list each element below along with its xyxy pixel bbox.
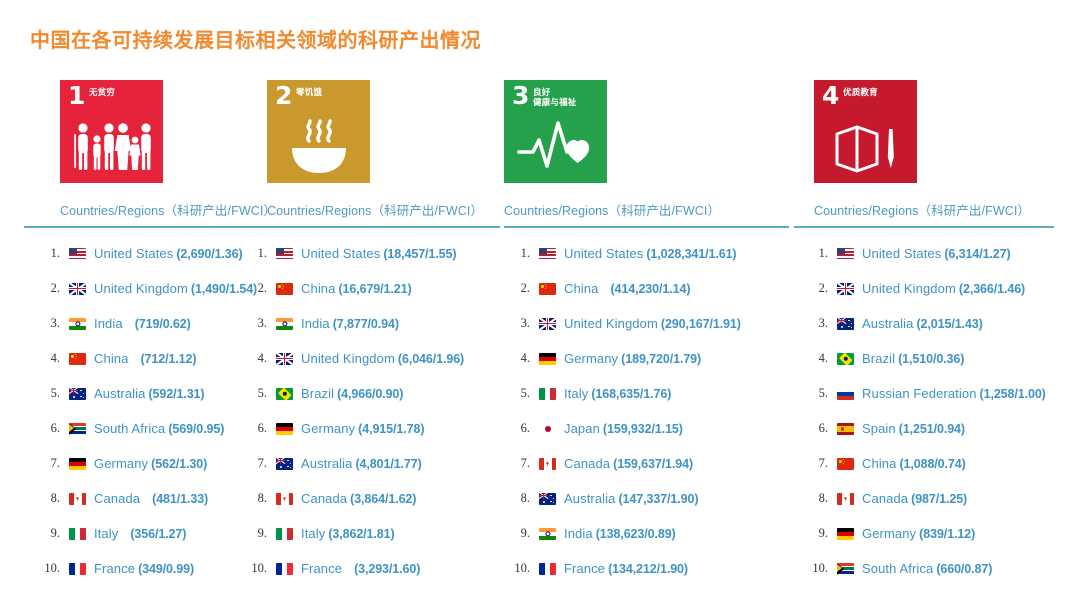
output-fwci-value: (562/1.30) bbox=[151, 457, 207, 471]
sdg-column-4: 4优质教育Countries/Regions（科研产出/FWCI）1.Unite… bbox=[794, 80, 1058, 586]
rank-number: 7. bbox=[802, 456, 828, 471]
list-item[interactable]: 6.Germany(4,915/1.78) bbox=[241, 411, 504, 446]
rank-number: 8. bbox=[241, 491, 267, 506]
list-item[interactable]: 6.Spain(1,251/0.94) bbox=[802, 411, 1058, 446]
rank-number: 10. bbox=[802, 561, 828, 576]
output-fwci-value: (987/1.25) bbox=[911, 492, 967, 506]
list-item[interactable]: 5.Brazil(4,966/0.90) bbox=[241, 376, 504, 411]
list-item[interactable]: 10.France(349/0.99) bbox=[34, 551, 256, 586]
rank-number: 8. bbox=[504, 491, 530, 506]
country-name: China bbox=[862, 456, 896, 471]
country-name: Australia bbox=[94, 386, 145, 401]
book-icon bbox=[814, 114, 917, 180]
rank-number: 4. bbox=[34, 351, 60, 366]
rank-number: 3. bbox=[241, 316, 267, 331]
list-item[interactable]: 3.Australia(2,015/1.43) bbox=[802, 306, 1058, 341]
output-fwci-value: (414,230/1.14) bbox=[610, 282, 690, 296]
output-fwci-value: (349/0.99) bbox=[138, 562, 194, 576]
output-fwci-value: (7,877/0.94) bbox=[333, 317, 399, 331]
country-name: Canada bbox=[301, 491, 347, 506]
output-fwci-value: (4,801/1.77) bbox=[355, 457, 421, 471]
country-name: United Kingdom bbox=[301, 351, 395, 366]
sdg-label: 良好健康与福祉 bbox=[533, 87, 577, 108]
rank-number: 10. bbox=[241, 561, 267, 576]
country-name: Germany bbox=[301, 421, 355, 436]
country-name: Canada bbox=[94, 491, 140, 506]
country-name: India bbox=[301, 316, 330, 331]
rank-number: 5. bbox=[504, 386, 530, 401]
sdg-column-3: 3良好健康与福祉Countries/Regions（科研产出/FWCI）1.Un… bbox=[504, 80, 794, 586]
list-item[interactable]: 7.Canada(159,637/1.94) bbox=[504, 446, 794, 481]
output-fwci-value: (290,167/1.91) bbox=[661, 317, 741, 331]
rank-number: 2. bbox=[34, 281, 60, 296]
rank-number: 9. bbox=[241, 526, 267, 541]
output-fwci-value: (6,046/1.96) bbox=[398, 352, 464, 366]
za-flag bbox=[837, 563, 854, 575]
country-name: United States bbox=[94, 246, 173, 261]
list-item[interactable]: 2.United Kingdom(1,490/1.54) bbox=[34, 271, 256, 306]
rank-number: 3. bbox=[504, 316, 530, 331]
output-fwci-value: (2,366/1.46) bbox=[959, 282, 1025, 296]
rank-number: 3. bbox=[802, 316, 828, 331]
list-item[interactable]: 3.India(719/0.62) bbox=[34, 306, 256, 341]
rank-number: 9. bbox=[802, 526, 828, 541]
rank-number: 9. bbox=[34, 526, 60, 541]
au-flag bbox=[539, 493, 556, 505]
ca-flag bbox=[837, 493, 854, 505]
column-divider bbox=[256, 226, 500, 228]
au-flag bbox=[69, 388, 86, 400]
country-name: India bbox=[94, 316, 123, 331]
sdg-badge-1[interactable]: 1无贫穷 bbox=[60, 80, 163, 183]
country-name: Russian Federation bbox=[862, 386, 977, 401]
heartbeat-icon bbox=[504, 114, 607, 180]
rank-number: 5. bbox=[802, 386, 828, 401]
sdg-label: 优质教育 bbox=[843, 87, 878, 97]
output-fwci-value: (4,966/0.90) bbox=[337, 387, 403, 401]
list-item[interactable]: 7.Germany(562/1.30) bbox=[34, 446, 256, 481]
sdg-badge-3[interactable]: 3良好健康与福祉 bbox=[504, 80, 607, 183]
rank-number: 7. bbox=[34, 456, 60, 471]
output-fwci-value: (16,679/1.21) bbox=[338, 282, 411, 296]
country-name: Canada bbox=[564, 456, 610, 471]
output-fwci-value: (189,720/1.79) bbox=[621, 352, 701, 366]
column-header: Countries/Regions（科研产出/FWCI） bbox=[60, 200, 256, 219]
output-fwci-value: (1,251/0.94) bbox=[899, 422, 965, 436]
rank-number: 4. bbox=[802, 351, 828, 366]
country-name: South Africa bbox=[862, 561, 933, 576]
gb-flag bbox=[837, 283, 854, 295]
fr-flag bbox=[276, 563, 293, 575]
rank-number: 4. bbox=[241, 351, 267, 366]
es-flag bbox=[837, 423, 854, 435]
gb-flag bbox=[276, 353, 293, 365]
country-name: United Kingdom bbox=[94, 281, 188, 296]
sdg-number: 4 bbox=[822, 83, 839, 108]
country-name: United States bbox=[301, 246, 380, 261]
country-name: Brazil bbox=[301, 386, 334, 401]
ca-flag bbox=[276, 493, 293, 505]
list-item[interactable]: 4.Brazil(1,510/0.36) bbox=[802, 341, 1058, 376]
sdg-number: 3 bbox=[512, 83, 529, 108]
country-name: Canada bbox=[862, 491, 908, 506]
list-item[interactable]: 2.China(16,679/1.21) bbox=[241, 271, 504, 306]
output-fwci-value: (2,015/1.43) bbox=[916, 317, 982, 331]
country-name: United States bbox=[862, 246, 941, 261]
country-name: China bbox=[301, 281, 335, 296]
sdg-badge-2[interactable]: 2零饥饿 bbox=[267, 80, 370, 183]
cn-flag bbox=[276, 283, 293, 295]
rank-number: 6. bbox=[241, 421, 267, 436]
output-fwci-value: (481/1.33) bbox=[152, 492, 208, 506]
column-header: Countries/Regions（科研产出/FWCI） bbox=[504, 200, 794, 219]
rank-number: 6. bbox=[504, 421, 530, 436]
country-name: India bbox=[564, 526, 593, 541]
list-item[interactable]: 5.Russian Federation(1,258/1.00) bbox=[802, 376, 1058, 411]
list-item[interactable]: 10.France(3,293/1.60) bbox=[241, 551, 504, 586]
output-fwci-value: (147,337/1.90) bbox=[618, 492, 698, 506]
output-fwci-value: (159,637/1.94) bbox=[613, 457, 693, 471]
output-fwci-value: (1,028,341/1.61) bbox=[646, 247, 736, 261]
sdg-columns-container: 1无贫穷Countries/Regions（科研产出/FWCI）1.United… bbox=[24, 80, 1058, 586]
rank-number: 1. bbox=[241, 246, 267, 261]
ranking-list: 1.United States(6,314/1.27)2.United King… bbox=[814, 236, 1058, 586]
country-name: Spain bbox=[862, 421, 896, 436]
output-fwci-value: (839/1.12) bbox=[919, 527, 975, 541]
br-flag bbox=[837, 353, 854, 365]
list-item[interactable]: 3.United Kingdom(290,167/1.91) bbox=[504, 306, 794, 341]
output-fwci-value: (138,623/0.89) bbox=[596, 527, 676, 541]
country-name: Italy bbox=[301, 526, 325, 541]
country-name: France bbox=[94, 561, 135, 576]
au-flag bbox=[276, 458, 293, 470]
fr-flag bbox=[539, 563, 556, 575]
rank-number: 1. bbox=[802, 246, 828, 261]
sdg-badge-4[interactable]: 4优质教育 bbox=[814, 80, 917, 183]
de-flag bbox=[539, 353, 556, 365]
country-name: Japan bbox=[564, 421, 600, 436]
list-item[interactable]: 10.France(134,212/1.90) bbox=[504, 551, 794, 586]
list-item[interactable]: 9.Italy(356/1.27) bbox=[34, 516, 256, 551]
country-name: Germany bbox=[862, 526, 916, 541]
rank-number: 10. bbox=[504, 561, 530, 576]
jp-flag bbox=[539, 423, 556, 435]
de-flag bbox=[837, 528, 854, 540]
za-flag bbox=[69, 423, 86, 435]
country-name: China bbox=[94, 351, 128, 366]
country-name: United Kingdom bbox=[564, 316, 658, 331]
us-flag bbox=[539, 248, 556, 260]
country-name: United States bbox=[564, 246, 643, 261]
output-fwci-value: (1,258/1.00) bbox=[980, 387, 1046, 401]
ranking-list: 1.United States(1,028,341/1.61)2.China(4… bbox=[504, 236, 794, 586]
rank-number: 8. bbox=[802, 491, 828, 506]
country-name: Italy bbox=[94, 526, 118, 541]
country-name: Italy bbox=[564, 386, 588, 401]
list-item[interactable]: 8.Canada(3,864/1.62) bbox=[241, 481, 504, 516]
list-item[interactable]: 9.Germany(839/1.12) bbox=[802, 516, 1058, 551]
list-item[interactable]: 1.United States(2,690/1.36) bbox=[34, 236, 256, 271]
ca-flag bbox=[539, 458, 556, 470]
country-name: Brazil bbox=[862, 351, 895, 366]
output-fwci-value: (660/0.87) bbox=[936, 562, 992, 576]
de-flag bbox=[69, 458, 86, 470]
rank-number: 7. bbox=[241, 456, 267, 471]
rank-number: 10. bbox=[34, 561, 60, 576]
bowl-icon bbox=[267, 114, 370, 180]
sdg-label: 零饥饿 bbox=[296, 87, 322, 97]
fr-flag bbox=[69, 563, 86, 575]
sdg-column-2: 2零饥饿Countries/Regions（科研产出/FWCI）1.United… bbox=[256, 80, 504, 586]
output-fwci-value: (3,862/1.81) bbox=[328, 527, 394, 541]
rank-number: 6. bbox=[34, 421, 60, 436]
output-fwci-value: (6,314/1.27) bbox=[944, 247, 1010, 261]
rank-number: 4. bbox=[504, 351, 530, 366]
list-item[interactable]: 4.United Kingdom(6,046/1.96) bbox=[241, 341, 504, 376]
output-fwci-value: (159,932/1.15) bbox=[603, 422, 683, 436]
list-item[interactable]: 8.Canada(481/1.33) bbox=[34, 481, 256, 516]
rank-number: 7. bbox=[504, 456, 530, 471]
rank-number: 2. bbox=[241, 281, 267, 296]
column-header: Countries/Regions（科研产出/FWCI） bbox=[267, 200, 504, 219]
us-flag bbox=[837, 248, 854, 260]
page-title: 中国在各可持续发展目标相关领域的科研产出情况 bbox=[30, 24, 481, 53]
au-flag bbox=[837, 318, 854, 330]
country-name: South Africa bbox=[94, 421, 165, 436]
us-flag bbox=[69, 248, 86, 260]
rank-number: 1. bbox=[34, 246, 60, 261]
list-item[interactable]: 6.South Africa(569/0.95) bbox=[34, 411, 256, 446]
list-item[interactable]: 7.Australia(4,801/1.77) bbox=[241, 446, 504, 481]
list-item[interactable]: 8.Canada(987/1.25) bbox=[802, 481, 1058, 516]
list-item[interactable]: 3.India(7,877/0.94) bbox=[241, 306, 504, 341]
output-fwci-value: (134,212/1.90) bbox=[608, 562, 688, 576]
list-item[interactable]: 8.Australia(147,337/1.90) bbox=[504, 481, 794, 516]
ru-flag bbox=[837, 388, 854, 400]
sdg-label: 无贫穷 bbox=[89, 87, 115, 97]
list-item[interactable]: 1.United States(6,314/1.27) bbox=[802, 236, 1058, 271]
list-item[interactable]: 2.China(414,230/1.14) bbox=[504, 271, 794, 306]
sdg-column-1: 1无贫穷Countries/Regions（科研产出/FWCI）1.United… bbox=[24, 80, 256, 586]
output-fwci-value: (2,690/1.36) bbox=[176, 247, 242, 261]
country-name: Australia bbox=[862, 316, 913, 331]
list-item[interactable]: 4.China(712/1.12) bbox=[34, 341, 256, 376]
gb-flag bbox=[539, 318, 556, 330]
rank-number: 6. bbox=[802, 421, 828, 436]
list-item[interactable]: 5.Italy(168,635/1.76) bbox=[504, 376, 794, 411]
us-flag bbox=[276, 248, 293, 260]
column-divider bbox=[794, 226, 1054, 228]
ca-flag bbox=[69, 493, 86, 505]
in-flag bbox=[276, 318, 293, 330]
it-flag bbox=[276, 528, 293, 540]
country-name: Germany bbox=[564, 351, 618, 366]
in-flag bbox=[69, 318, 86, 330]
rank-number: 9. bbox=[504, 526, 530, 541]
rank-number: 5. bbox=[241, 386, 267, 401]
in-flag bbox=[539, 528, 556, 540]
country-name: Germany bbox=[94, 456, 148, 471]
list-item[interactable]: 2.United Kingdom(2,366/1.46) bbox=[802, 271, 1058, 306]
output-fwci-value: (1,510/0.36) bbox=[898, 352, 964, 366]
output-fwci-value: (3,864/1.62) bbox=[350, 492, 416, 506]
rank-number: 2. bbox=[802, 281, 828, 296]
country-name: France bbox=[301, 561, 342, 576]
output-fwci-value: (712/1.12) bbox=[140, 352, 196, 366]
output-fwci-value: (168,635/1.76) bbox=[591, 387, 671, 401]
gb-flag bbox=[69, 283, 86, 295]
rank-number: 1. bbox=[504, 246, 530, 261]
it-flag bbox=[69, 528, 86, 540]
ranking-list: 1.United States(18,457/1.55)2.China(16,6… bbox=[267, 236, 504, 586]
list-item[interactable]: 9.India(138,623/0.89) bbox=[504, 516, 794, 551]
output-fwci-value: (3,293/1.60) bbox=[354, 562, 420, 576]
list-item[interactable]: 5.Australia(592/1.31) bbox=[34, 376, 256, 411]
list-item[interactable]: 1.United States(18,457/1.55) bbox=[241, 236, 504, 271]
country-name: Australia bbox=[564, 491, 615, 506]
output-fwci-value: (4,915/1.78) bbox=[358, 422, 424, 436]
output-fwci-value: (719/0.62) bbox=[135, 317, 191, 331]
column-divider bbox=[504, 226, 789, 228]
output-fwci-value: (356/1.27) bbox=[130, 527, 186, 541]
cn-flag bbox=[539, 283, 556, 295]
it-flag bbox=[539, 388, 556, 400]
country-name: France bbox=[564, 561, 605, 576]
list-item[interactable]: 7.China(1,088/0.74) bbox=[802, 446, 1058, 481]
country-name: China bbox=[564, 281, 598, 296]
output-fwci-value: (1,088/0.74) bbox=[899, 457, 965, 471]
sdg-number: 2 bbox=[275, 83, 292, 108]
rank-number: 5. bbox=[34, 386, 60, 401]
ranking-list: 1.United States(2,690/1.36)2.United King… bbox=[60, 236, 256, 586]
output-fwci-value: (18,457/1.55) bbox=[383, 247, 456, 261]
family-icon bbox=[60, 114, 163, 180]
rank-number: 3. bbox=[34, 316, 60, 331]
list-item[interactable]: 6.Japan(159,932/1.15) bbox=[504, 411, 794, 446]
de-flag bbox=[276, 423, 293, 435]
list-item[interactable]: 9.Italy(3,862/1.81) bbox=[241, 516, 504, 551]
country-name: United Kingdom bbox=[862, 281, 956, 296]
country-name: Australia bbox=[301, 456, 352, 471]
list-item[interactable]: 1.United States(1,028,341/1.61) bbox=[504, 236, 794, 271]
output-fwci-value: (569/0.95) bbox=[168, 422, 224, 436]
output-fwci-value: (592/1.31) bbox=[148, 387, 204, 401]
rank-number: 2. bbox=[504, 281, 530, 296]
br-flag bbox=[276, 388, 293, 400]
list-item[interactable]: 4.Germany(189,720/1.79) bbox=[504, 341, 794, 376]
cn-flag bbox=[69, 353, 86, 365]
rank-number: 8. bbox=[34, 491, 60, 506]
column-header: Countries/Regions（科研产出/FWCI） bbox=[814, 200, 1058, 219]
sdg-number: 1 bbox=[68, 83, 85, 108]
list-item[interactable]: 10.South Africa(660/0.87) bbox=[802, 551, 1058, 586]
cn-flag bbox=[837, 458, 854, 470]
column-divider bbox=[24, 226, 256, 228]
